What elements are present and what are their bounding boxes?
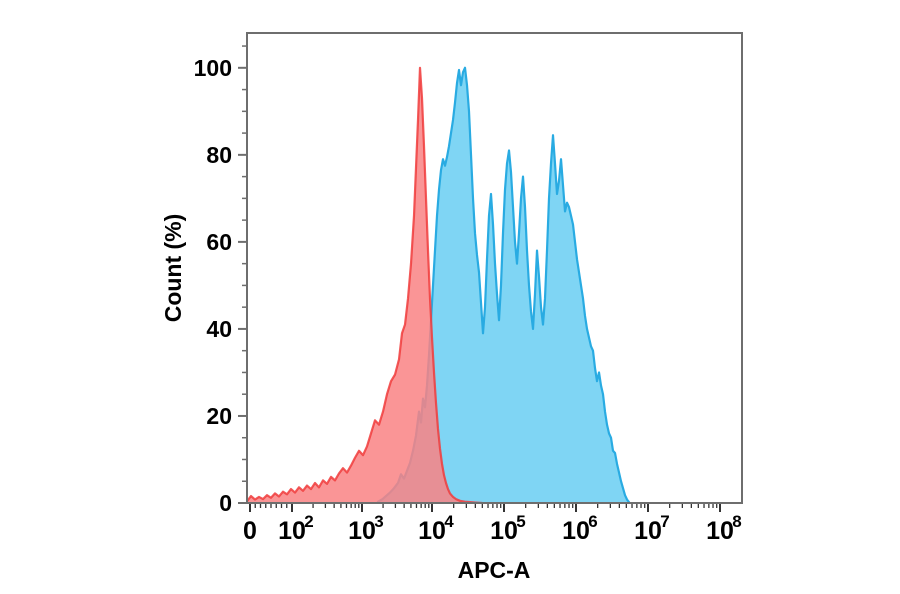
x-axis-tick-mantissa: 10 — [562, 517, 590, 545]
x-axis-tick-exponent: 4 — [444, 512, 454, 531]
x-axis-tick-mantissa: 10 — [634, 517, 662, 545]
x-axis-title: APC-A — [458, 557, 531, 583]
y-axis-tick-label: 60 — [206, 229, 232, 255]
x-axis-tick-mantissa: 10 — [706, 517, 734, 545]
chart-canvas: 020406080100 0102103104105106107108 Coun… — [0, 0, 900, 594]
x-axis-tick-mantissa: 10 — [348, 517, 376, 545]
y-axis-title: Count (%) — [160, 214, 186, 323]
x-axis-tick-exponent: 5 — [516, 512, 525, 531]
x-axis-tick-label: 0 — [243, 517, 257, 545]
y-axis-tick-label: 0 — [219, 490, 232, 516]
x-axis-tick-exponent: 6 — [588, 512, 597, 531]
x-axis-tick-mantissa: 10 — [278, 517, 306, 545]
x-axis-tick-exponent: 8 — [732, 512, 741, 531]
x-axis-tick-exponent: 3 — [374, 512, 383, 531]
y-axis-tick-label: 80 — [206, 142, 232, 168]
flow-cytometry-histogram: 020406080100 0102103104105106107108 Coun… — [0, 0, 900, 594]
x-axis-tick-exponent: 2 — [304, 512, 313, 531]
y-axis-tick-label: 40 — [206, 316, 232, 342]
x-axis-tick-exponent: 7 — [660, 512, 669, 531]
x-axis-tick-mantissa: 10 — [418, 517, 446, 545]
x-axis-tick-mantissa: 10 — [490, 517, 518, 545]
y-axis-tick-label: 100 — [194, 55, 232, 81]
y-axis-tick-label: 20 — [206, 403, 232, 429]
x-axis-tick-mantissa: 0 — [243, 517, 257, 545]
